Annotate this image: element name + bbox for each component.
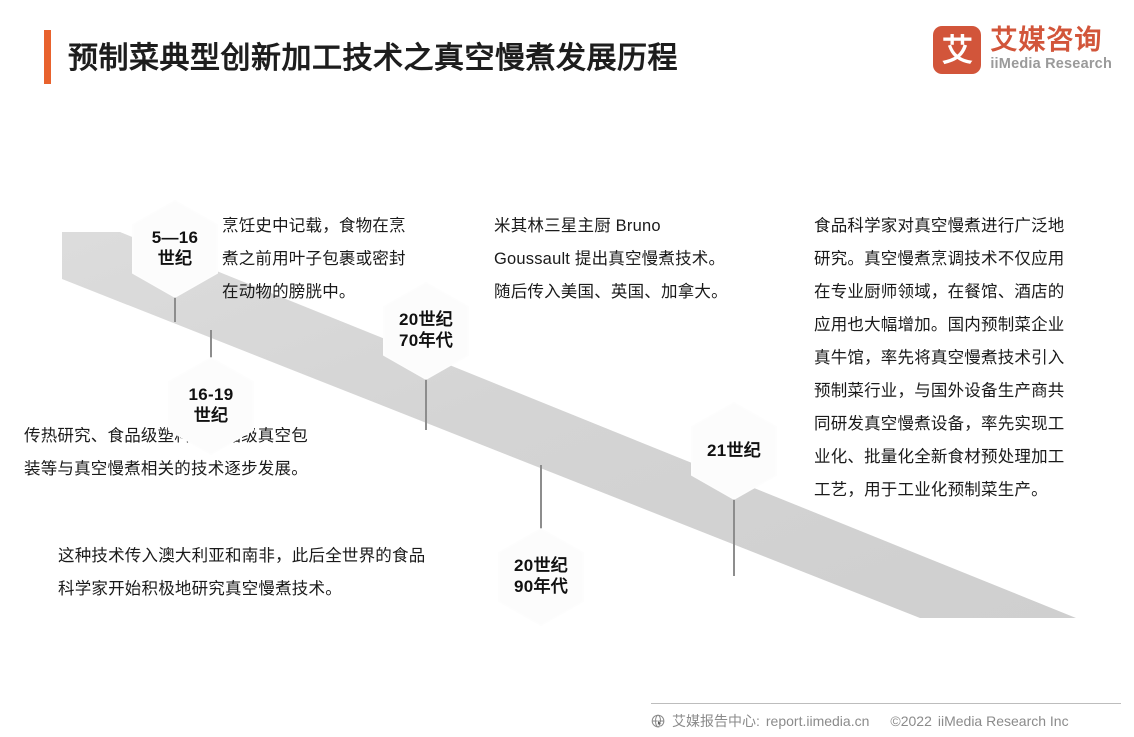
title-accent-bar [44,30,51,84]
footer-url[interactable]: report.iimedia.cn [766,713,870,729]
footer-content: 艾媒报告中心: report.iimedia.cn ©2022 iiMedia … [651,711,1069,731]
logo-name-en: iiMedia Research [990,56,1112,73]
milestone-hexagon-1[interactable]: 5—16 世纪 [132,200,218,298]
milestone-label-line2: 世纪 [158,249,193,268]
description-line: 食品科学家对真空慢煮进行广泛地 [814,210,1114,243]
logo-text: 艾媒咨询 iiMedia Research [990,26,1112,74]
footer-divider [651,703,1121,704]
description-block-3: 米其林三星主厨 Bruno Goussault 提出真空慢煮技术。 随后传入美国… [494,210,784,309]
milestone-label: 20世纪 90年代 [514,556,568,597]
footer-copyright: ©2022 [890,713,931,729]
milestone-label-line1: 20世纪 [399,310,453,329]
description-line: 同研发真空慢煮设备，率先实现工 [814,408,1114,441]
logo-mark-icon: 艾 [933,26,981,74]
globe-cursor-icon [651,714,666,729]
description-line: 装等与真空慢煮相关的技术逐步发展。 [24,453,474,486]
description-line: 在专业厨师领域，在餐馆、酒店的 [814,276,1114,309]
description-block-4: 这种技术传入澳大利亚和南非，此后全世界的食品 科学家开始积极地研究真空慢煮技术。 [58,540,498,606]
page-header: 预制菜典型创新加工技术之真空慢煮发展历程 艾 艾媒咨询 iiMedia Rese… [0,0,1134,110]
milestone-hexagon-5[interactable]: 21世纪 [691,402,777,500]
description-line: 随后传入美国、英国、加拿大。 [494,276,784,309]
milestone-label-line2: 90年代 [514,577,568,596]
description-line: 真牛馆，率先将真空慢煮技术引入 [814,342,1114,375]
description-line: 这种技术传入澳大利亚和南非，此后全世界的食品 [58,540,498,573]
description-line: 煮之前用叶子包裹或密封 [222,243,472,276]
milestone-hexagon-2[interactable]: 16-19 世纪 [168,357,254,455]
description-block-5: 食品科学家对真空慢煮进行广泛地 研究。真空慢煮烹调技术不仅应用 在专业厨师领域，… [814,210,1114,507]
description-line: Goussault 提出真空慢煮技术。 [494,243,784,276]
description-line: 工艺，用于工业化预制菜生产。 [814,474,1114,507]
stem-milestone-4 [540,465,542,535]
description-line: 科学家开始积极地研究真空慢煮技术。 [58,573,498,606]
milestone-label: 20世纪 70年代 [399,310,453,351]
milestone-label-line1: 21世纪 [707,441,761,460]
description-line: 研究。真空慢煮烹调技术不仅应用 [814,243,1114,276]
logo-name-cn: 艾媒咨询 [990,26,1112,55]
milestone-hexagon-3[interactable]: 20世纪 70年代 [383,282,469,380]
footer-source-label: 艾媒报告中心: [672,711,760,731]
milestone-label: 16-19 世纪 [189,385,234,426]
description-line: 应用也大幅增加。国内预制菜企业 [814,309,1114,342]
milestone-label: 5—16 世纪 [152,228,199,269]
milestone-label: 21世纪 [707,441,761,462]
page-title: 预制菜典型创新加工技术之真空慢煮发展历程 [68,33,678,77]
description-line: 烹饪史中记载，食物在烹 [222,210,472,243]
description-line: 米其林三星主厨 Bruno [494,210,784,243]
brand-logo: 艾 艾媒咨询 iiMedia Research [933,26,1112,74]
description-line: 预制菜行业，与国外设备生产商共 [814,375,1114,408]
milestone-label-line1: 16-19 [189,385,234,404]
description-line: 业化、批量化全新食材预处理加工 [814,441,1114,474]
milestone-label-line1: 5—16 [152,228,199,247]
milestone-label-line1: 20世纪 [514,556,568,575]
milestone-label-line2: 70年代 [399,331,453,350]
milestone-hexagon-4[interactable]: 20世纪 90年代 [498,528,584,626]
page-footer: 艾媒报告中心: report.iimedia.cn ©2022 iiMedia … [0,703,1134,737]
milestone-label-line2: 世纪 [194,406,229,425]
footer-company: iiMedia Research Inc [938,713,1069,729]
